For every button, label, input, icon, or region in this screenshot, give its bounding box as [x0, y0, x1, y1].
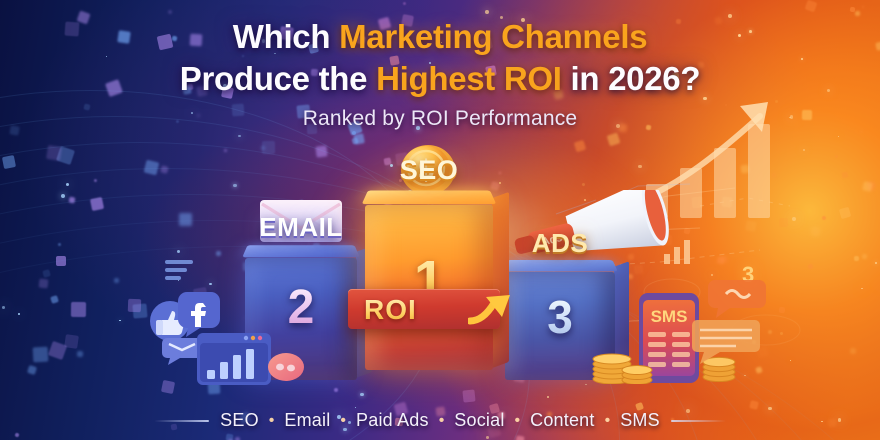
- browser-bar-chart-icon: [196, 332, 272, 386]
- podium-2-rank-number: 2: [245, 284, 357, 332]
- footer-channel-social: Social: [454, 410, 504, 431]
- headline-word-produce-the: Produce the: [180, 60, 367, 97]
- chat-bubble-lines-icon: [690, 318, 762, 366]
- headline-line-2: Produce the Highest ROI in 2026?: [0, 58, 880, 100]
- footer-separator: •: [269, 412, 275, 430]
- podium-2-top-face: [242, 245, 360, 257]
- podium-2-label: EMAIL: [259, 214, 342, 240]
- footer-channel-seo: SEO: [220, 410, 259, 431]
- podium-rank-1-seo: SEO 1: [365, 205, 493, 370]
- footer-channel-content: Content: [530, 410, 594, 431]
- roi-ribbon-banner: ROI: [348, 289, 500, 329]
- left-mini-bars-icon: [164, 258, 194, 282]
- footer-items: SEO•Email•Paid Ads•Social•Content•SMS: [220, 410, 660, 431]
- roi-ribbon-text: ROI: [364, 294, 417, 326]
- headline-line-1: Which Marketing Channels: [0, 16, 880, 58]
- roi-arrow-icon: [468, 291, 514, 327]
- social-pill-icon: [266, 352, 306, 382]
- podium-1-label: SEO: [400, 157, 459, 184]
- headline-block: Which Marketing Channels Produce the Hig…: [0, 16, 880, 131]
- marketing-roi-infographic: Which Marketing Channels Produce the Hig…: [0, 0, 880, 440]
- headline-word-which: Which: [233, 18, 330, 55]
- podium-1-top-face: [362, 191, 496, 205]
- sms-phone-label-text: SMS: [651, 307, 688, 326]
- chat-bubble-icon: [706, 278, 768, 320]
- footer-separator: •: [605, 412, 611, 430]
- podium-1-side-face: [492, 192, 509, 368]
- channel-list-footer: SEO•Email•Paid Ads•Social•Content•SMS: [0, 410, 880, 431]
- podium-3-top-face: [502, 260, 617, 271]
- footer-rule-right: [671, 420, 726, 422]
- coin-stack-small-icon: [620, 360, 654, 384]
- headline-highlight-marketing-channels: Marketing Channels: [339, 18, 647, 55]
- footer-channel-sms: SMS: [620, 410, 660, 431]
- headline-highlight-highest-roi: Highest ROI: [376, 60, 562, 97]
- footer-rule-left: [154, 420, 209, 422]
- footer-separator: •: [515, 412, 521, 430]
- footer-separator: •: [439, 412, 445, 430]
- podium-3-rank-number: 3: [505, 294, 615, 340]
- headline-subtitle: Ranked by ROI Performance: [0, 107, 880, 131]
- headline-word-in-2026: in 2026?: [571, 60, 701, 97]
- footer-channel-paid-ads: Paid Ads: [356, 410, 429, 431]
- podium-3-label: ADS: [532, 230, 588, 256]
- facebook-icon: [176, 290, 222, 338]
- footer-channel-email: Email: [284, 410, 330, 431]
- footer-separator: •: [340, 412, 346, 430]
